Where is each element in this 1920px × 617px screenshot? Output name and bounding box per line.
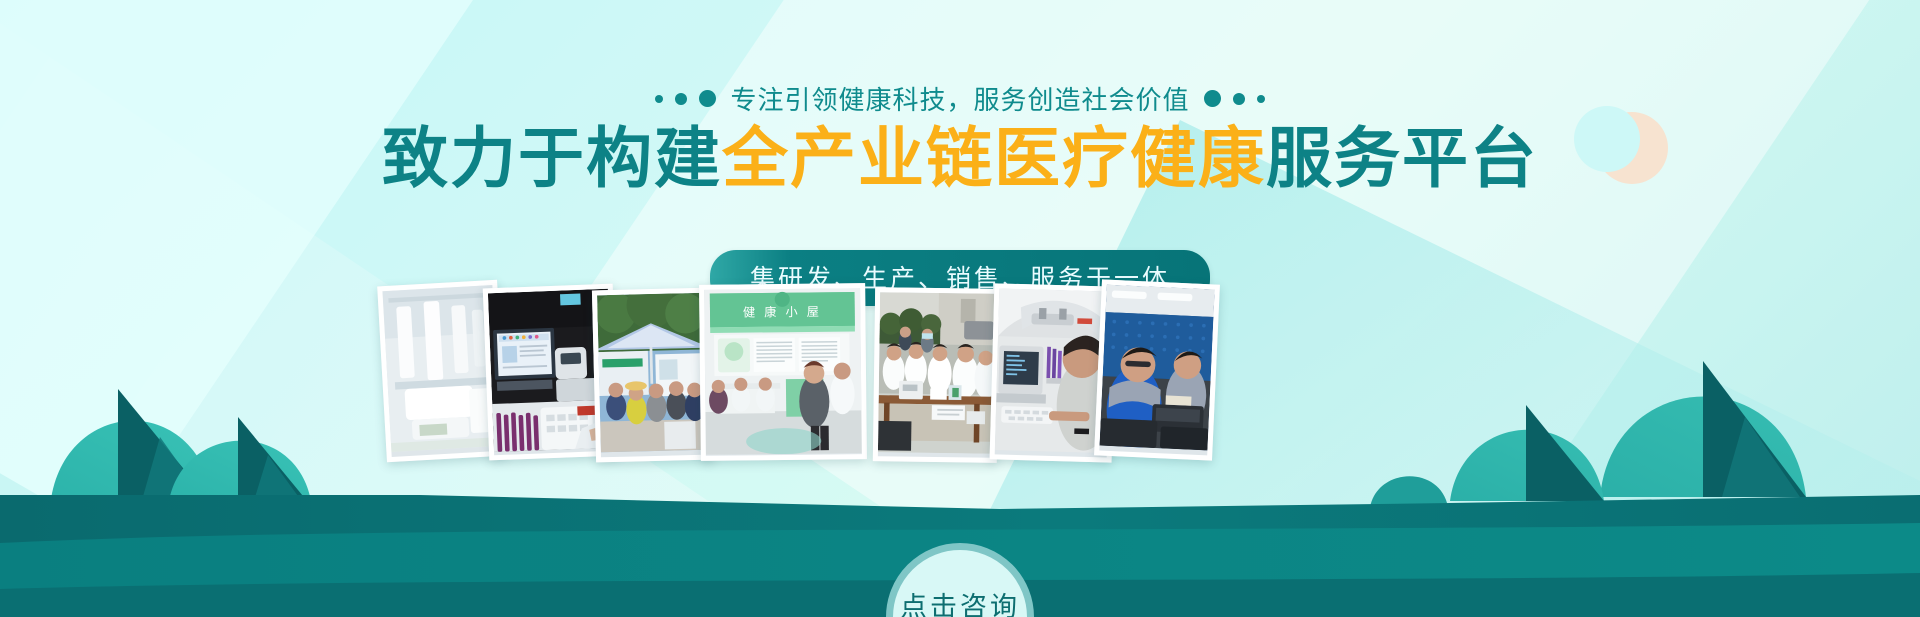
gallery-photo-4[interactable]: 健 康 小 屋 [699,283,867,461]
photo-gallery: 健 康 小 屋 [0,0,1920,617]
consult-button-label: 点击咨询 [900,585,1020,617]
gallery-photo-3[interactable] [592,288,714,463]
promo-banner: 专注引领健康科技，服务创造社会价值 致力于构建全产业链医疗健康服务平台 集研发、… [0,0,1920,617]
gallery-photo-7[interactable] [1094,279,1220,460]
gallery-photo-5-image [878,292,994,454]
health-hut-sign-text: 健 康 小 屋 [743,304,822,320]
gallery-photo-7-image [1100,285,1215,451]
gallery-photo-3-image [597,293,709,453]
gallery-photo-6-image [995,288,1111,453]
gallery-photo-4-image: 健 康 小 屋 [704,288,862,455]
gallery-photo-5[interactable] [873,287,999,463]
